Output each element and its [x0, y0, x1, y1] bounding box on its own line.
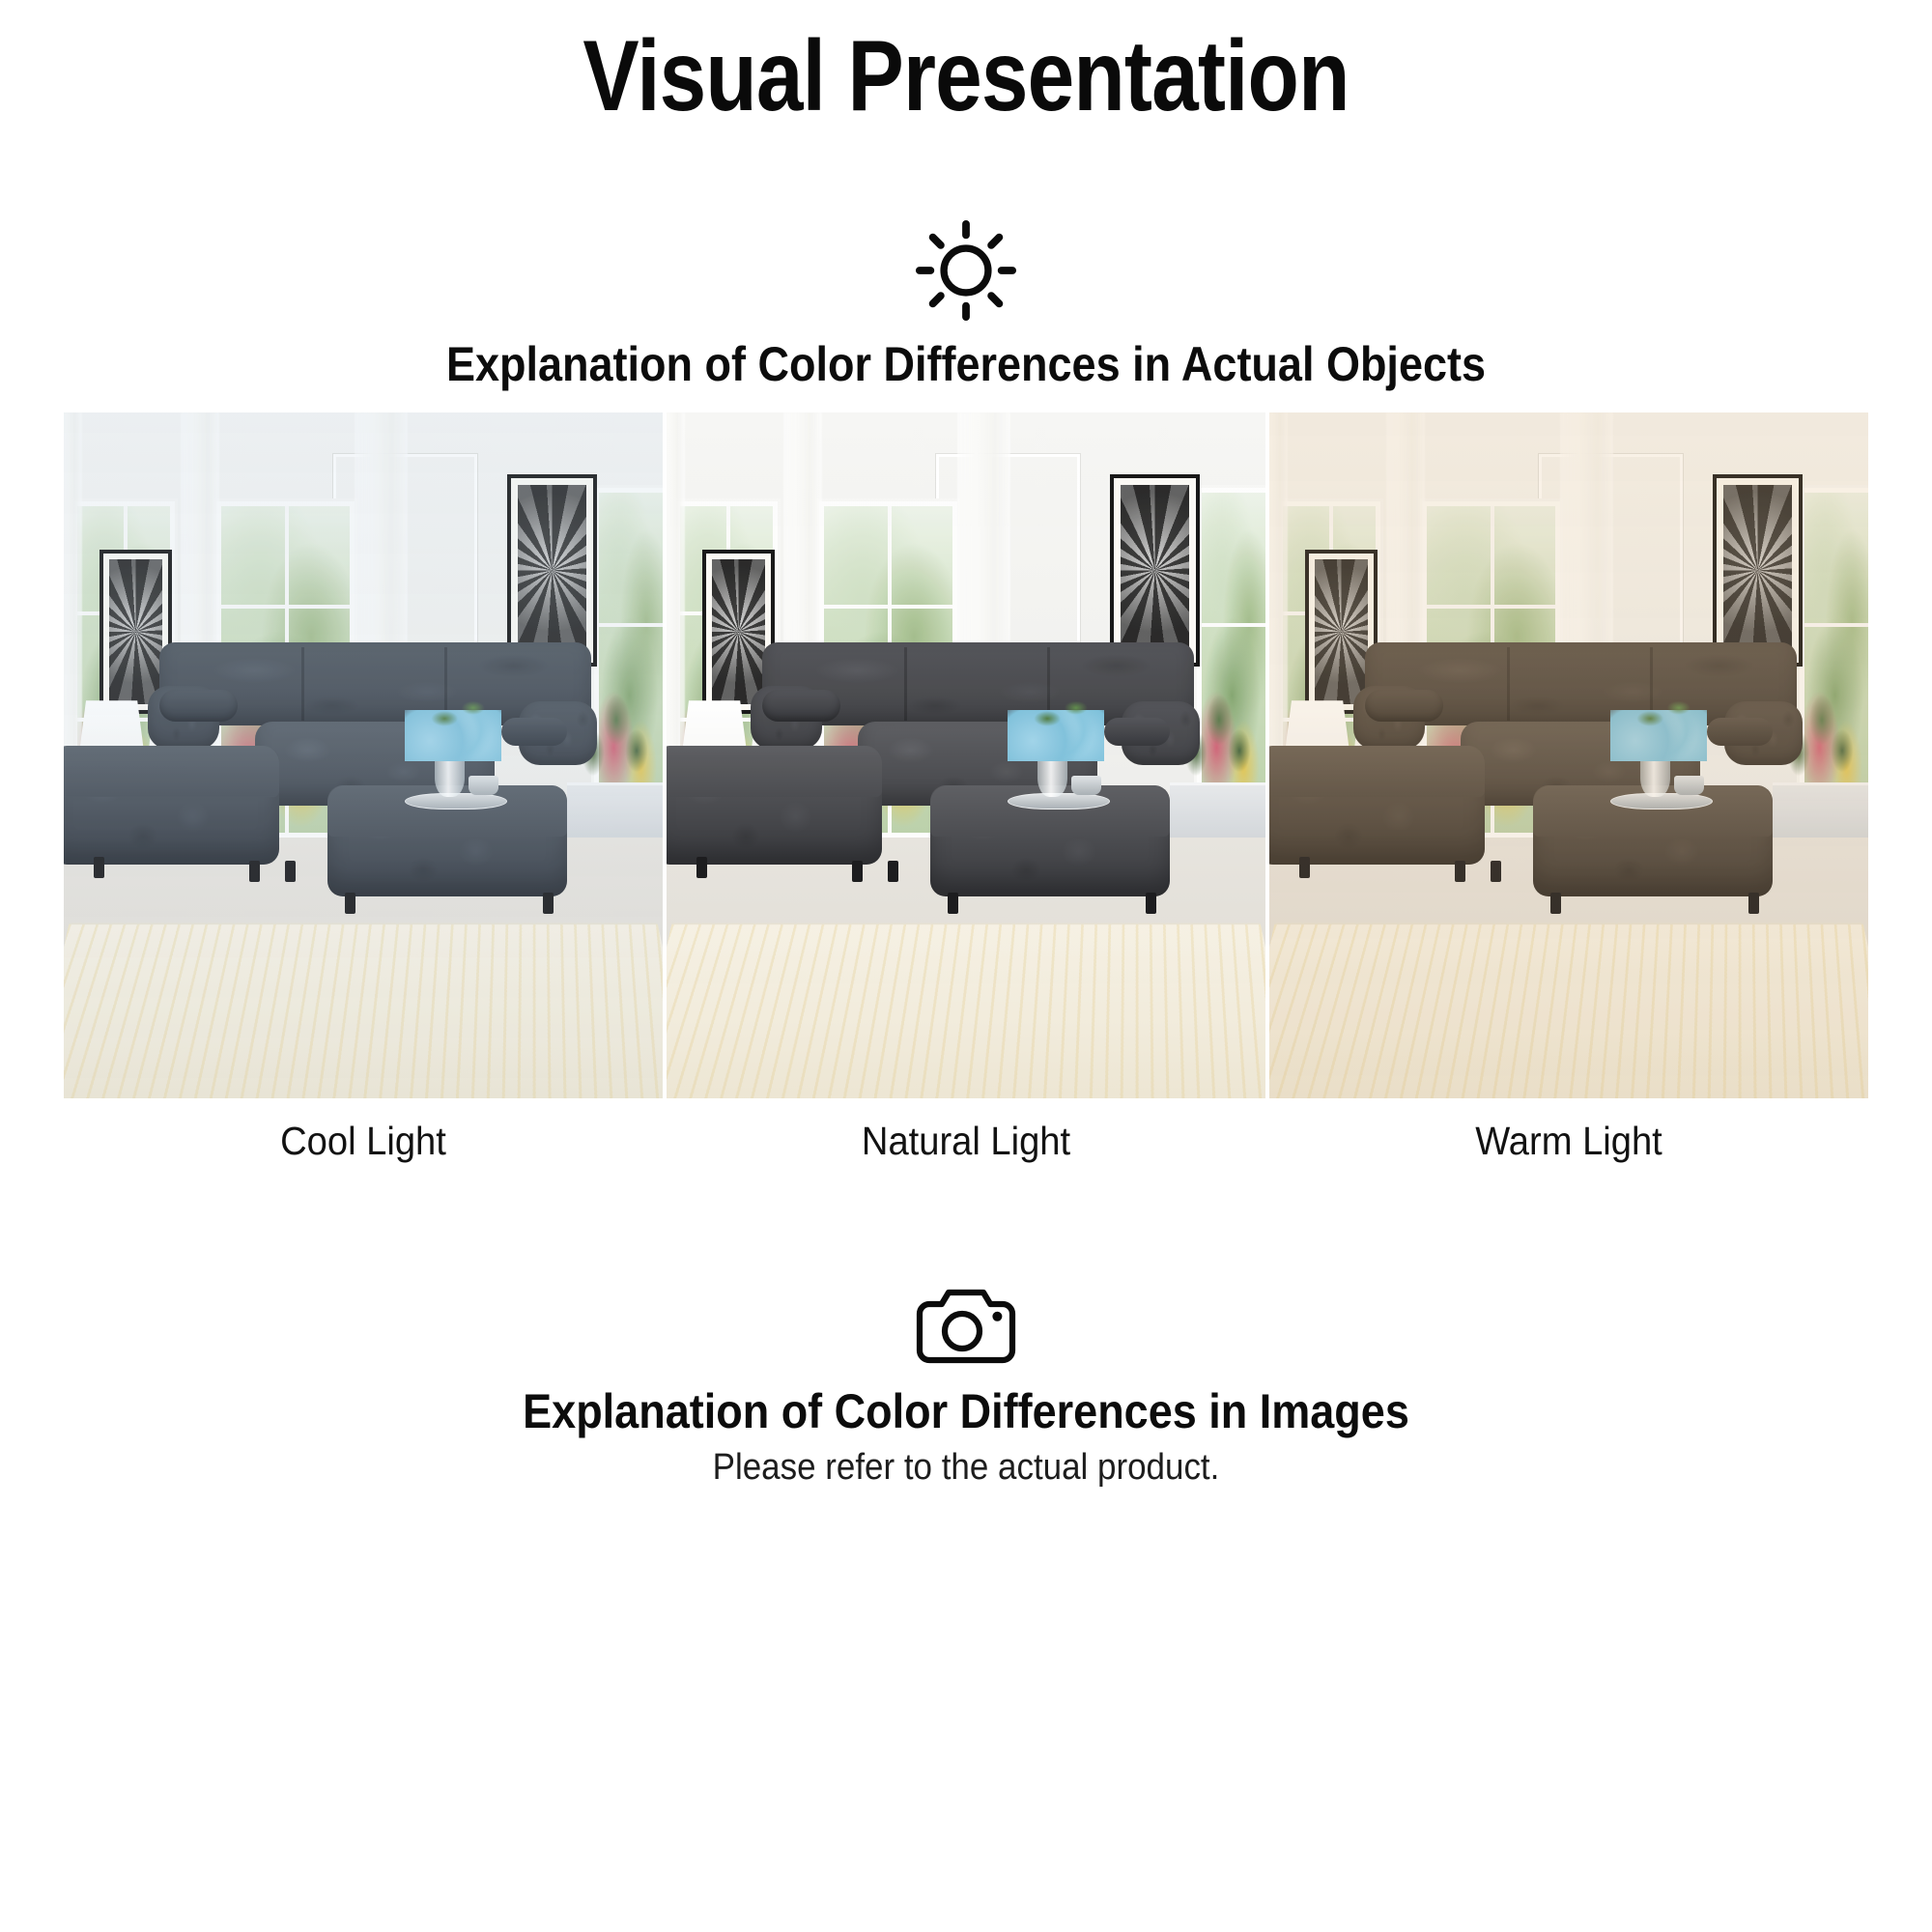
- sectional-sofa: [1269, 618, 1868, 1016]
- sun-icon: [913, 217, 1019, 324]
- sectional-sofa: [64, 618, 663, 1016]
- living-room-scene-natural: [667, 412, 1265, 1098]
- caption-warm-light: Warm Light: [1291, 1119, 1848, 1164]
- camera-icon-container: [0, 1285, 1932, 1370]
- chaise-cushion: [64, 746, 279, 798]
- bolster-pillow: [762, 690, 840, 722]
- foliage-stems: [1629, 694, 1700, 729]
- chaise-cushion: [1269, 746, 1485, 798]
- infographic-page: Visual Presentation Explanation of Color…: [0, 0, 1932, 1932]
- foliage-stems: [1026, 694, 1097, 729]
- caption-natural-light: Natural Light: [688, 1119, 1245, 1164]
- bolster-pillow: [1365, 690, 1443, 722]
- chaise-cushion: [667, 746, 882, 798]
- living-room-scene-cool: [64, 412, 663, 1098]
- photo-row: [64, 412, 1868, 1098]
- living-room-scene-warm: [1269, 412, 1868, 1098]
- cup: [1674, 776, 1704, 796]
- bolster-pillow: [159, 690, 238, 722]
- caption-cool-light: Cool Light: [85, 1119, 642, 1164]
- cup: [469, 776, 498, 796]
- photo-card-natural-light[interactable]: [667, 412, 1265, 1098]
- cup: [1071, 776, 1101, 796]
- device-row: [0, 1517, 1932, 1932]
- page-title: Visual Presentation: [155, 17, 1777, 136]
- sun-icon-container: [0, 217, 1932, 324]
- photo-card-warm-light[interactable]: [1269, 412, 1868, 1098]
- sectional-sofa: [667, 618, 1265, 1016]
- bolster-pillow: [1707, 718, 1773, 746]
- section-heading-actual-objects: Explanation of Color Differences in Actu…: [97, 336, 1835, 392]
- bolster-pillow: [1104, 718, 1170, 746]
- camera-icon: [914, 1285, 1018, 1370]
- section-heading-images: Explanation of Color Differences in Imag…: [97, 1383, 1835, 1439]
- foliage-stems: [423, 694, 495, 729]
- section-subheading: Please refer to the actual product.: [77, 1447, 1855, 1489]
- caption-row: Cool Light Natural Light Warm Light: [64, 1119, 1868, 1164]
- photo-card-cool-light[interactable]: [64, 412, 663, 1098]
- bolster-pillow: [501, 718, 567, 746]
